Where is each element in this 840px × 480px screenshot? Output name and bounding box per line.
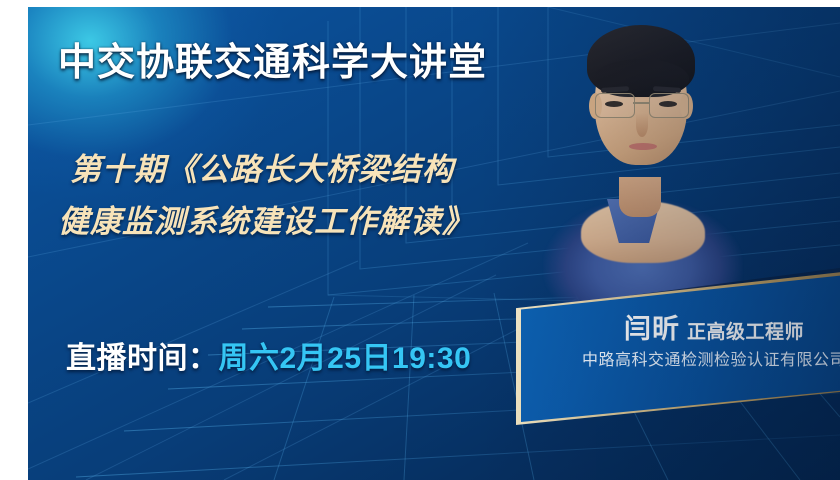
live-time-row: 直播时间：周六2月25日19:30 (66, 333, 471, 377)
program-subtitle: 第十期《公路长大桥梁结构 健康监测系统建设工作解读》 (70, 144, 590, 248)
portrait-hair (587, 25, 695, 97)
live-event-poster: 中交协联交通科学大讲堂 第十期《公路长大桥梁结构 健康监测系统建设工作解读》 直… (0, 0, 840, 480)
speaker-role: 正高级工程师 (687, 322, 804, 343)
portrait-nose (636, 113, 648, 137)
program-subtitle-line-1: 第十期《公路长大桥梁结构 (70, 152, 454, 187)
program-subtitle-line-2: 健康监测系统建设工作解读》 (58, 196, 590, 248)
live-time-label: 直播时间： (66, 342, 219, 375)
portrait-neck (619, 177, 661, 217)
speaker-organization: 中路高科交通检测检验认证有限公司 (543, 346, 840, 370)
poster-artboard: 中交协联交通科学大讲堂 第十期《公路长大桥梁结构 健康监测系统建设工作解读》 直… (28, 7, 840, 480)
page-title: 中交协联交通科学大讲堂 (58, 31, 487, 86)
card-text-layer: 闫昕正高级工程师 中路高科交通检测检验认证有限公司 (521, 270, 840, 422)
live-time-value: 周六2月25日19:30 (219, 342, 472, 375)
speaker-name: 闫昕 (624, 314, 680, 344)
speaker-name-card: 闫昕正高级工程师 中路高科交通检测检验认证有限公司 (502, 255, 840, 440)
portrait-mouth (629, 143, 657, 150)
card-name-row: 闫昕正高级工程师 (549, 307, 840, 346)
